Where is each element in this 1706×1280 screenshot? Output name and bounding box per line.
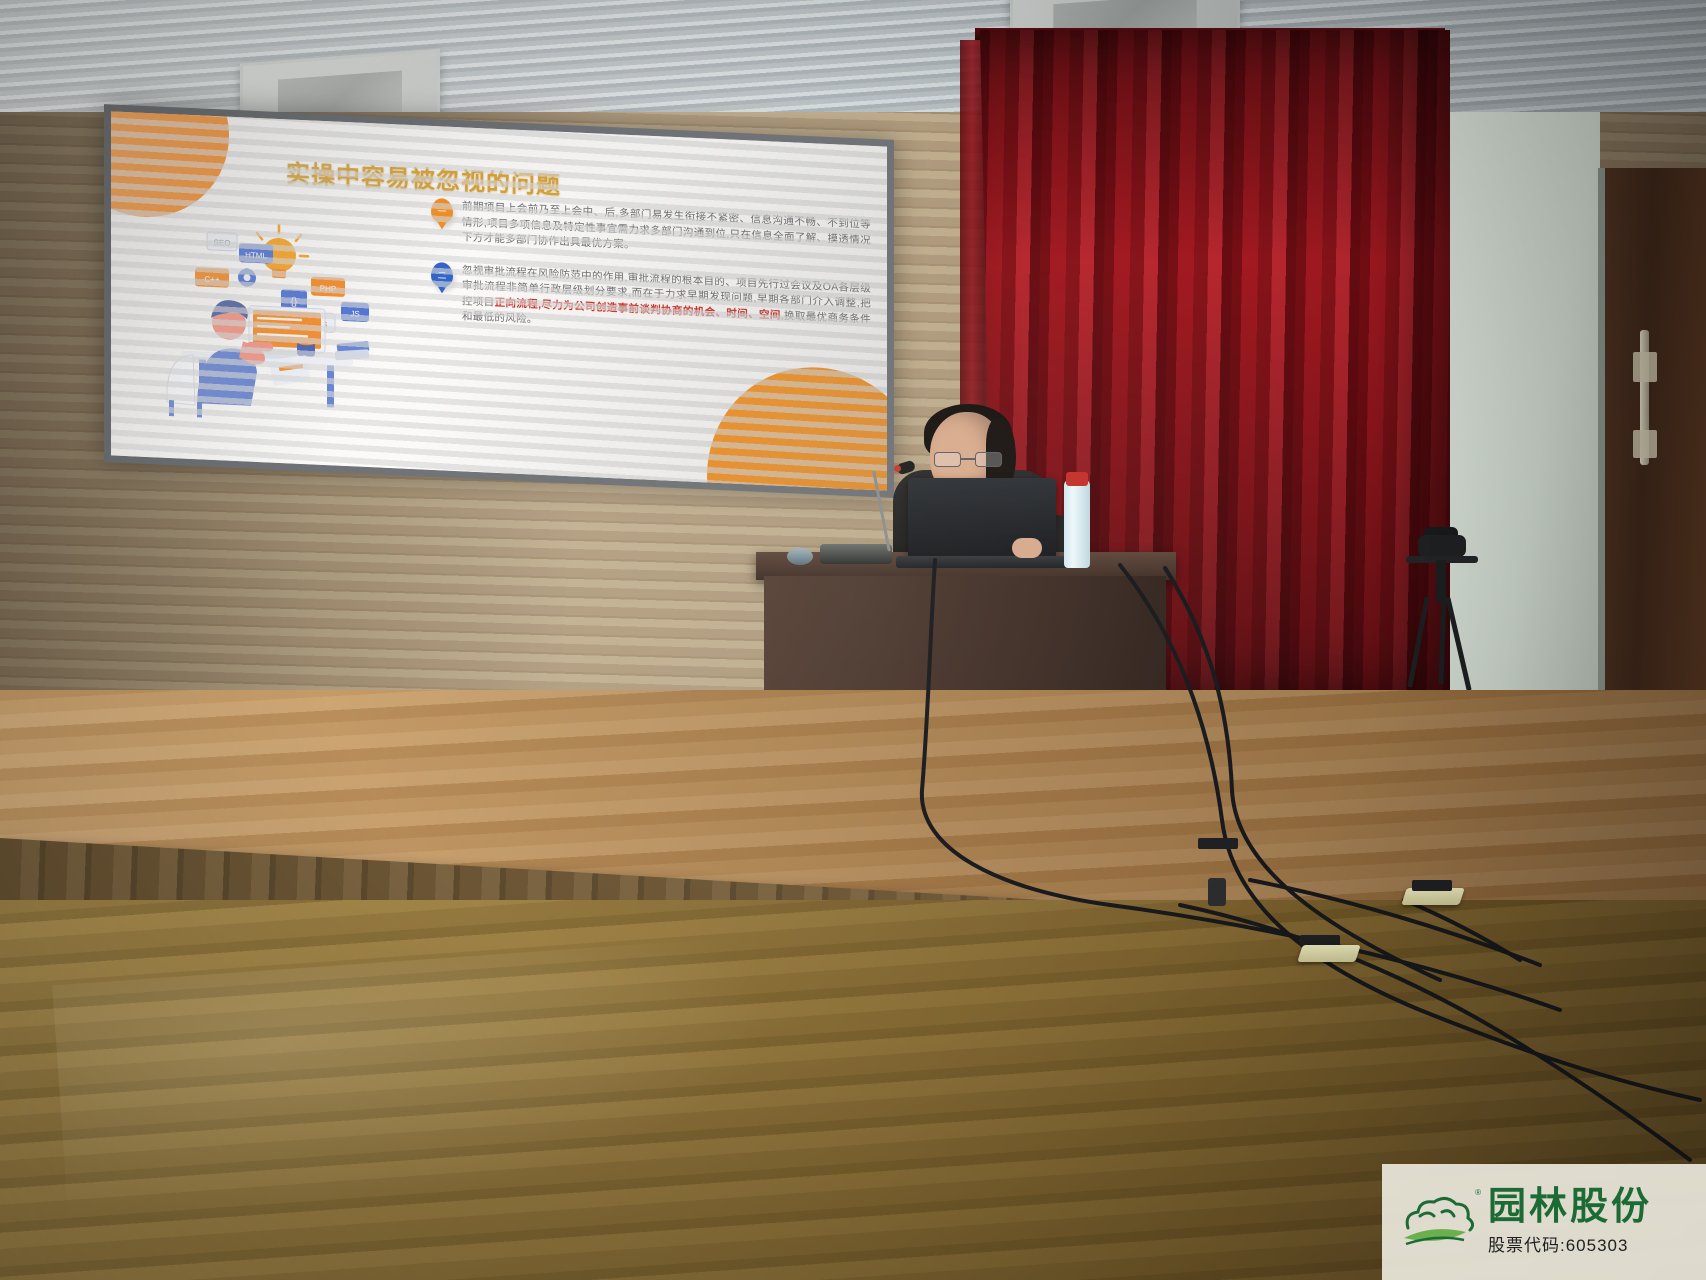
glasses-lens-right bbox=[975, 452, 1002, 467]
desk-leg-right bbox=[327, 365, 334, 407]
microphone-indicator-light bbox=[894, 465, 901, 472]
orange-blob-decor-bottom-right bbox=[707, 362, 887, 490]
bullet-marker-one: 一 bbox=[431, 198, 453, 224]
tag-cpp: C++ bbox=[195, 267, 229, 288]
plug-block-2 bbox=[1412, 880, 1452, 891]
developer-at-desk-illustration: SEO HTML C++ PHP JS CSS {} bbox=[151, 201, 381, 426]
stock-code: 股票代码:605303 bbox=[1488, 1231, 1652, 1256]
green-tree-logo-icon: ® bbox=[1394, 1186, 1478, 1258]
right-plaster-wall bbox=[1432, 112, 1600, 752]
floor-reflection bbox=[52, 935, 788, 1235]
microphone-base[interactable] bbox=[820, 544, 892, 564]
slide-bullet-list: 一 前期项目上会前乃至上会中、后,多部门易发生衔接不紧密、信息沟通不畅、不到位等… bbox=[431, 198, 871, 360]
projection-screen: 实操中容易被忽视的问题 bbox=[111, 111, 887, 490]
bullet-text-two: 忽视审批流程在风险防范中的作用,审批流程的根本目的、项目先行过会议及OA各层级审… bbox=[462, 263, 871, 344]
presentation-slide: 实操中容易被忽视的问题 bbox=[111, 111, 887, 490]
presentation-room-photo: 实操中容易被忽视的问题 bbox=[0, 0, 1706, 1280]
bullet-marker-two: 二 bbox=[431, 261, 453, 287]
laptop-keyboard-base[interactable] bbox=[896, 556, 1068, 568]
glasses-lens-left bbox=[934, 452, 961, 467]
presenter-glasses bbox=[934, 452, 1002, 467]
svg-text:C++: C++ bbox=[204, 275, 219, 285]
power-strip-yellow[interactable] bbox=[1297, 945, 1361, 962]
svg-text:HTML: HTML bbox=[245, 250, 267, 260]
door-plate-lower bbox=[1633, 430, 1657, 458]
tag-js: JS bbox=[341, 302, 369, 322]
tag-html: HTML bbox=[239, 243, 273, 264]
company-name: 园林股份 bbox=[1488, 1188, 1652, 1228]
books-stack bbox=[335, 339, 370, 362]
registered-mark: ® bbox=[1475, 1188, 1481, 1197]
water-bottle bbox=[1064, 480, 1090, 568]
list-item: 二 忽视审批流程在风险防范中的作用,审批流程的根本目的、项目先行过会议及OA各层… bbox=[431, 261, 871, 343]
watermark-text-block: 园林股份 股票代码:605303 bbox=[1488, 1188, 1652, 1256]
plug-block bbox=[1198, 838, 1238, 849]
power-adapter bbox=[1208, 878, 1226, 906]
svg-text:JS: JS bbox=[350, 309, 359, 318]
tag-seo: SEO bbox=[207, 232, 237, 251]
list-item: 一 前期项目上会前乃至上会中、后,多部门易发生衔接不紧密、信息沟通不畅、不到位等… bbox=[431, 198, 871, 264]
bullet-text-one: 前期项目上会前乃至上会中、后,多部门易发生衔接不紧密、信息沟通不畅、不到位等情形… bbox=[462, 199, 871, 264]
illustration-svg: SEO HTML C++ PHP JS CSS {} bbox=[151, 201, 381, 426]
glasses-bridge bbox=[961, 458, 975, 460]
slide-title: 实操中容易被忽视的问题 bbox=[286, 153, 561, 200]
svg-text:SEO: SEO bbox=[214, 238, 231, 248]
presenter-hand bbox=[1012, 538, 1042, 558]
computer-mouse[interactable] bbox=[787, 548, 813, 565]
tripod-head bbox=[1418, 535, 1466, 557]
company-watermark: ® 园林股份 股票代码:605303 bbox=[1382, 1164, 1706, 1280]
water-bottle-cap bbox=[1066, 472, 1088, 486]
door-plate-upper bbox=[1633, 352, 1657, 382]
papers bbox=[269, 355, 311, 386]
svg-text:PHP: PHP bbox=[320, 284, 336, 294]
bullet-text-one-part: 前期项目上会前乃至上会中、后,多部门易发生衔接不紧密、信息沟通不畅、不到位等情形… bbox=[462, 200, 871, 251]
gear-icon bbox=[238, 268, 256, 287]
tag-php: PHP bbox=[311, 276, 345, 297]
svg-text:{}: {} bbox=[291, 297, 298, 308]
projection-screen-frame: 实操中容易被忽视的问题 bbox=[104, 104, 894, 498]
room-door[interactable] bbox=[1598, 168, 1706, 768]
slat-ceiling bbox=[0, 0, 1706, 126]
